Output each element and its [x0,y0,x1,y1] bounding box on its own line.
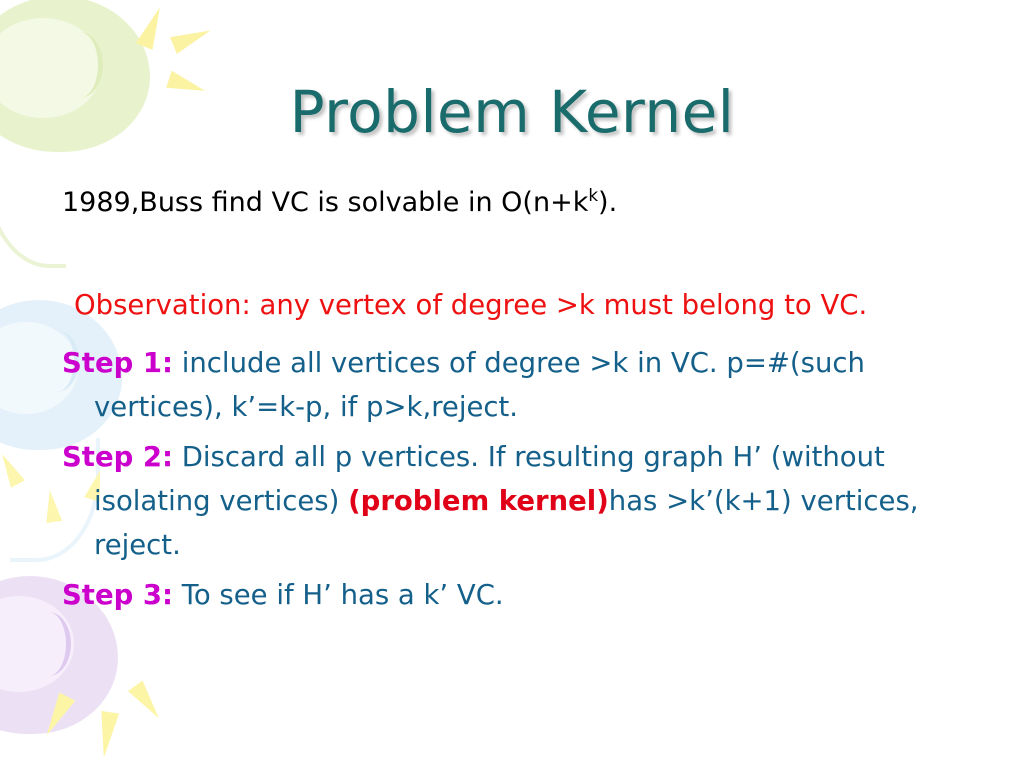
sparkle-ray-icon [0,450,25,488]
green-balloon-string [0,146,66,268]
step-2-label: Step 2: [62,441,173,473]
sparkle-ray-icon [136,4,168,50]
intro-prefix: 1989,Buss find VC is solvable in O(n+k [62,187,588,218]
intro-line: 1989,Buss find VC is solvable in O(n+kk)… [62,187,617,218]
sparkle-ray-icon [170,22,214,54]
step-1-label: Step 1: [62,347,173,379]
step-3-text: To see if H’ has a k’ VC. [173,579,504,611]
presentation-slide: Problem Kernel 1989,Buss find VC is solv… [0,0,1024,768]
sparkle-ray-icon [128,681,166,724]
slide-body: Observation: any vertex of degree >k mus… [62,283,977,623]
step-1-paragraph: Step 1: include all vertices of degree >… [62,341,977,429]
observation-paragraph: Observation: any vertex of degree >k mus… [62,283,977,327]
intro-suffix: ). [598,187,617,218]
slide-title: Problem Kernel [0,78,1024,146]
step-3-label: Step 3: [62,579,173,611]
intro-superscript: k [588,185,598,205]
step-1-text: include all vertices of degree >k in VC.… [94,347,865,423]
sparkle-ray-icon [95,711,119,759]
step-3-paragraph: Step 3: To see if H’ has a k’ VC. [62,573,977,617]
sparkle-ray-icon [42,489,62,523]
step-2-paragraph: Step 2: Discard all p vertices. If resul… [62,435,977,567]
problem-kernel-emphasis: (problem kernel) [348,485,609,517]
sparkle-ray-icon [39,692,76,739]
